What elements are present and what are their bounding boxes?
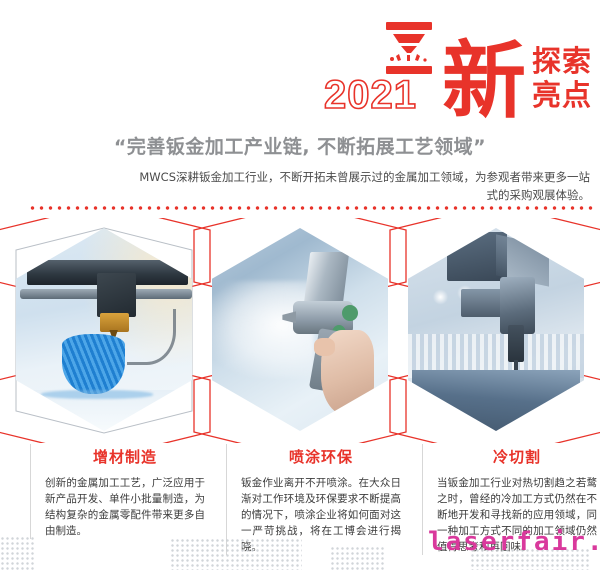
feature-column-cutting: 冷切割 当钣金加工行业对热切割趋之若鹜之时，曾经的冷加工方式仍然在不断地开发和寻… — [422, 444, 597, 555]
cnc-spindle — [508, 325, 524, 362]
operator-finger — [314, 338, 335, 356]
spray-gun-cup — [304, 252, 349, 305]
feature-title-additive: 增材制造 — [45, 446, 205, 467]
printed-vase-raft — [41, 390, 154, 398]
headline-character: 新 — [442, 42, 526, 120]
header-inner: 2021 新 探索 亮点 — [324, 18, 592, 114]
side-word-2: 亮点 — [532, 78, 592, 112]
feature-columns: 增材制造 创新的金属加工工艺，广泛应用于新产品开发、单件小批量制造，为结构复杂的… — [0, 444, 600, 570]
laser-cutting-machine-icon — [380, 20, 438, 76]
shop-light-1 — [433, 289, 449, 305]
spray-gun-knob-upper — [342, 305, 358, 321]
feature-body-additive: 创新的金属加工工艺，广泛应用于新产品开发、单件小批量制造，为结构复杂的金属零配件… — [45, 475, 205, 539]
poster-root: 2021 新 探索 亮点 “完善钣金加工产业链, 不断拓展工艺领域” MWCS深… — [0, 0, 600, 570]
printer-cable — [127, 309, 176, 365]
header: 2021 新 探索 亮点 — [0, 0, 600, 128]
feature-body-cutting: 当钣金加工行业对热切割趋之若鹜之时，曾经的冷加工方式仍然在不断地开发和寻找新的应… — [437, 475, 597, 555]
year-block: 2021 — [324, 18, 442, 114]
dotted-divider — [28, 206, 594, 210]
hexagon-row — [0, 218, 600, 443]
description-text: MWCS深耕钣金加工行业，不断开拓未曾展示过的金属加工领域，为参观者带来更多一站… — [130, 168, 590, 204]
tagline: “完善钣金加工产业链, 不断拓展工艺领域” — [0, 132, 600, 159]
printer-hotend — [100, 313, 128, 331]
year-label: 2021 — [324, 73, 417, 118]
printed-vase — [62, 334, 125, 395]
feature-body-spray: 钣金作业离开不开喷涂。在大众日渐对工作环境及环保要求不断提高的情况下，喷涂企业将… — [241, 475, 401, 555]
feature-column-additive: 增材制造 创新的金属加工工艺，广泛应用于新产品开发、单件小批量制造，为结构复杂的… — [30, 444, 205, 539]
side-words: 探索 亮点 — [532, 44, 592, 112]
feature-title-cutting: 冷切割 — [437, 446, 597, 467]
cnc-bracket — [461, 289, 503, 317]
feature-title-spray: 喷涂环保 — [241, 446, 401, 467]
side-word-1: 探索 — [532, 44, 592, 78]
feature-column-spray: 喷涂环保 钣金作业离开不开喷涂。在大众日渐对工作环境及环保要求不断提高的情况下，… — [226, 444, 401, 555]
